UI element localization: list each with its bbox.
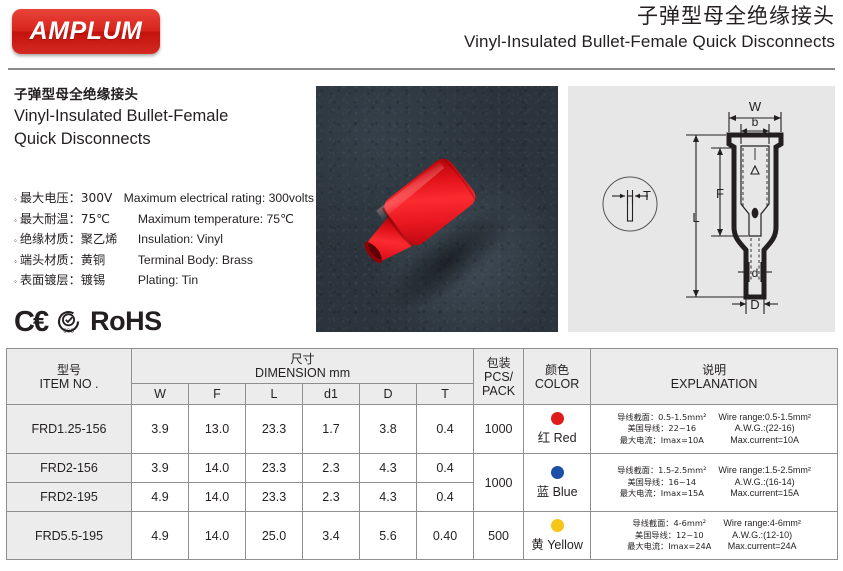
spec-item-en: Plating: Tin	[138, 271, 198, 291]
cell-t: 0.4	[417, 454, 474, 483]
color-label-cn: 红	[538, 430, 551, 445]
explanation-cn-col: 导线截面：1.5-2.5mm² 美国导线：16~14 最大电流：Imax=15A	[617, 465, 706, 500]
datasheet-page: AMPLUM 子弹型母全绝缘接头 Vinyl-Insulated Bullet-…	[0, 0, 843, 571]
cell-l: 23.3	[246, 454, 303, 483]
spec-item-cn: 绝缘材质：聚乙烯	[20, 230, 138, 250]
col-header-color-en: COLOR	[525, 377, 589, 391]
dim-label-t: T	[643, 188, 651, 203]
spec-title-en-line2: Quick Disconnects	[14, 128, 314, 151]
spec-item-en: Maximum temperature: 75℃	[138, 210, 294, 230]
spec-title-en-line1: Vinyl-Insulated Bullet-Female	[14, 105, 314, 128]
col-header-dim-d: D	[360, 384, 417, 405]
cell-d1: 3.4	[303, 512, 360, 560]
color-label-en: Red	[554, 431, 577, 445]
spec-title-cn: 子弹型母全绝缘接头	[14, 86, 314, 105]
page-header: AMPLUM 子弹型母全绝缘接头 Vinyl-Insulated Bullet-…	[0, 0, 843, 66]
explanation-en-line: Max.current=10A	[718, 435, 811, 447]
cell-color: 蓝 Blue	[524, 454, 591, 512]
cell-item-no: FRD1.25-156	[7, 405, 132, 454]
dim-label-w: W	[749, 99, 762, 114]
cell-d1: 1.7	[303, 405, 360, 454]
col-header-explanation: 说明 EXPLANATION	[591, 349, 838, 405]
explanation-en-col: Wire range:0.5-1.5mm² A.W.G.:(22-16) Max…	[718, 412, 811, 447]
page-title: 子弹型母全绝缘接头 Vinyl-Insulated Bullet-Female …	[464, 2, 835, 54]
explanation-cn-col: 导线截面：4-6mm² 美国导线：12~10 最大电流：Imax=24A	[627, 518, 711, 553]
dim-label-b: b	[752, 115, 759, 129]
explanation-en-line: Max.current=24A	[723, 541, 801, 553]
spec-item-cn: 最大耐温：75℃	[20, 210, 138, 230]
ce-mark-icon: C€	[14, 307, 47, 337]
col-header-dimension: 尺寸 DIMENSION mm	[132, 349, 474, 384]
cell-item-no: FRD2-195	[7, 483, 132, 512]
color-label-cn: 黄	[531, 537, 544, 552]
color-label: 红 Red	[538, 431, 577, 445]
explanation-cn-col: 导线截面：0.5-1.5mm² 美国导线：22~16 最大电流：Imax=10A	[617, 412, 706, 447]
col-header-pack-en2: PACK	[475, 384, 522, 398]
product-image	[344, 110, 534, 310]
color-label-cn: 蓝	[537, 484, 550, 499]
col-header-item-no: 型号 ITEM NO .	[7, 349, 132, 405]
cell-f: 14.0	[189, 454, 246, 483]
cell-explanation: 导线截面：0.5-1.5mm² 美国导线：22~16 最大电流：Imax=10A…	[591, 405, 838, 454]
svg-text:SGS: SGS	[63, 329, 74, 335]
col-header-dim-l: L	[246, 384, 303, 405]
cell-d1: 2.3	[303, 454, 360, 483]
explanation-cn-line: 最大电流：Imax=24A	[627, 541, 711, 553]
col-header-pack-cn: 包装	[475, 356, 522, 370]
spec-item: ◦ 绝缘材质：聚乙烯 Insulation: Vinyl	[14, 230, 314, 251]
explanation-cn-line: 导线截面：1.5-2.5mm²	[617, 465, 706, 477]
explanation-en-line: A.W.G.:(16-14)	[718, 477, 811, 489]
header-divider	[8, 68, 835, 70]
bullet-icon: ◦	[14, 272, 17, 292]
bullet-icon: ◦	[14, 252, 17, 272]
color-label-en: Blue	[553, 485, 578, 499]
bullet-icon: ◦	[14, 231, 17, 251]
spec-item: ◦ 最大电压：300V Maximum electrical rating: 3…	[14, 189, 314, 210]
explanation-en-line: Wire range:1.5-2.5mm²	[718, 465, 811, 477]
dim-label-f: F	[716, 186, 724, 201]
specification-panel: 子弹型母全绝缘接头 Vinyl-Insulated Bullet-Female …	[14, 86, 314, 337]
spec-item-en: Insulation: Vinyl	[138, 230, 223, 250]
bullet-icon: ◦	[14, 190, 17, 210]
logo-text: AMPLUM	[30, 17, 143, 46]
cell-pack: 1000	[474, 454, 524, 512]
cell-d: 5.6	[360, 512, 417, 560]
spec-item: ◦ 最大耐温：75℃ Maximum temperature: 75℃	[14, 210, 314, 231]
color-swatch-icon	[551, 466, 564, 479]
col-header-dim-f: F	[189, 384, 246, 405]
dim-label-d-small: d	[752, 266, 759, 280]
explanation-en-line: Max.current=15A	[718, 488, 811, 500]
col-header-item-no-en: ITEM NO .	[8, 377, 130, 391]
color-swatch-icon	[551, 412, 564, 425]
color-label: 黄 Yellow	[531, 538, 583, 552]
spec-item-en: Terminal Body: Brass	[138, 251, 253, 271]
brand-logo: AMPLUM	[12, 9, 160, 54]
col-header-color: 颜色 COLOR	[524, 349, 591, 405]
cell-f: 14.0	[189, 512, 246, 560]
cell-l: 25.0	[246, 512, 303, 560]
color-label-en: Yellow	[547, 538, 583, 552]
col-header-item-no-cn: 型号	[8, 363, 130, 377]
spec-item: ◦ 表面镀层：镀锡 Plating: Tin	[14, 271, 314, 292]
col-header-color-cn: 颜色	[525, 363, 589, 377]
color-swatch-icon	[551, 519, 564, 532]
bullet-icon: ◦	[14, 211, 17, 231]
explanation-en-line: Wire range:4-6mm²	[723, 518, 801, 530]
explanation-cn-line: 最大电流：Imax=10A	[617, 435, 706, 447]
sgs-mark-icon: SGS	[54, 307, 83, 336]
cell-d: 4.3	[360, 483, 417, 512]
technical-drawing: W b F L d D T	[568, 86, 835, 332]
explanation-cn-line: 导线截面：4-6mm²	[627, 518, 711, 530]
cell-w: 3.9	[132, 454, 189, 483]
table-row: FRD1.25-156 3.9 13.0 23.3 1.7 3.8 0.4 10…	[7, 405, 838, 454]
spec-item: ◦ 端头材质：黄铜 Terminal Body: Brass	[14, 251, 314, 272]
col-header-explanation-en: EXPLANATION	[592, 377, 836, 391]
col-header-pack: 包装 PCS/ PACK	[474, 349, 524, 405]
content-middle: 子弹型母全绝缘接头 Vinyl-Insulated Bullet-Female …	[0, 78, 843, 340]
cell-w: 3.9	[132, 405, 189, 454]
product-photo	[316, 86, 558, 332]
explanation-en-col: Wire range:1.5-2.5mm² A.W.G.:(16-14) Max…	[718, 465, 811, 500]
cell-t: 0.4	[417, 483, 474, 512]
spec-item-cn: 最大电压：300V	[20, 189, 124, 209]
specification-table-wrap: 型号 ITEM NO . 尺寸 DIMENSION mm 包装 PCS/ PAC…	[6, 348, 837, 560]
cell-w: 4.9	[132, 483, 189, 512]
spec-item-en: Maximum electrical rating: 300volts	[124, 189, 314, 209]
table-row: FRD2-156 3.9 14.0 23.3 2.3 4.3 0.4 1000 …	[7, 454, 838, 483]
cell-t: 0.40	[417, 512, 474, 560]
explanation-en-line: A.W.G.:(12-10)	[723, 530, 801, 542]
col-header-pack-en1: PCS/	[475, 370, 522, 384]
explanation-cn-line: 美国导线：12~10	[627, 530, 711, 542]
cell-l: 23.3	[246, 483, 303, 512]
color-label: 蓝 Blue	[537, 485, 578, 499]
explanation-en-line: A.W.G.:(22-16)	[718, 423, 811, 435]
col-header-dim-t: T	[417, 384, 474, 405]
page-title-cn: 子弹型母全绝缘接头	[464, 2, 835, 30]
cell-f: 13.0	[189, 405, 246, 454]
spec-list: ◦ 最大电压：300V Maximum electrical rating: 3…	[14, 189, 314, 292]
spec-item-cn: 表面镀层：镀锡	[20, 271, 138, 291]
cell-item-no: FRD2-156	[7, 454, 132, 483]
col-header-dim-w: W	[132, 384, 189, 405]
col-header-dimension-en: DIMENSION mm	[133, 366, 472, 380]
explanation-cn-line: 最大电流：Imax=15A	[617, 488, 706, 500]
cell-pack: 1000	[474, 405, 524, 454]
cell-d1: 2.3	[303, 483, 360, 512]
cell-t: 0.4	[417, 405, 474, 454]
table-row: FRD5.5-195 4.9 14.0 25.0 3.4 5.6 0.40 50…	[7, 512, 838, 560]
cell-color: 黄 Yellow	[524, 512, 591, 560]
explanation-cn-line: 美国导线：16~14	[617, 477, 706, 489]
cell-d: 3.8	[360, 405, 417, 454]
cell-color: 红 Red	[524, 405, 591, 454]
spec-item-cn: 端头材质：黄铜	[20, 251, 138, 271]
explanation-en-col: Wire range:4-6mm² A.W.G.:(12-10) Max.cur…	[723, 518, 801, 553]
cell-d: 4.3	[360, 454, 417, 483]
cell-explanation: 导线截面：1.5-2.5mm² 美国导线：16~14 最大电流：Imax=15A…	[591, 454, 838, 512]
cell-explanation: 导线截面：4-6mm² 美国导线：12~10 最大电流：Imax=24A Wir…	[591, 512, 838, 560]
cell-pack: 500	[474, 512, 524, 560]
page-title-en: Vinyl-Insulated Bullet-Female Quick Disc…	[464, 30, 835, 54]
rohs-mark-text: RoHS	[90, 307, 162, 336]
cell-f: 14.0	[189, 483, 246, 512]
cell-w: 4.9	[132, 512, 189, 560]
dim-label-l: L	[692, 210, 699, 225]
cell-l: 23.3	[246, 405, 303, 454]
col-header-dim-d1: d1	[303, 384, 360, 405]
explanation-cn-line: 导线截面：0.5-1.5mm²	[617, 412, 706, 424]
col-header-dimension-cn: 尺寸	[133, 352, 472, 366]
dim-label-d-big: D	[750, 297, 759, 312]
cell-item-no: FRD5.5-195	[7, 512, 132, 560]
explanation-en-line: Wire range:0.5-1.5mm²	[718, 412, 811, 424]
explanation-cn-line: 美国导线：22~16	[617, 423, 706, 435]
certification-marks: C€ SGS RoHS	[14, 307, 314, 337]
specification-table: 型号 ITEM NO . 尺寸 DIMENSION mm 包装 PCS/ PAC…	[6, 348, 838, 560]
col-header-explanation-cn: 说明	[592, 363, 836, 377]
